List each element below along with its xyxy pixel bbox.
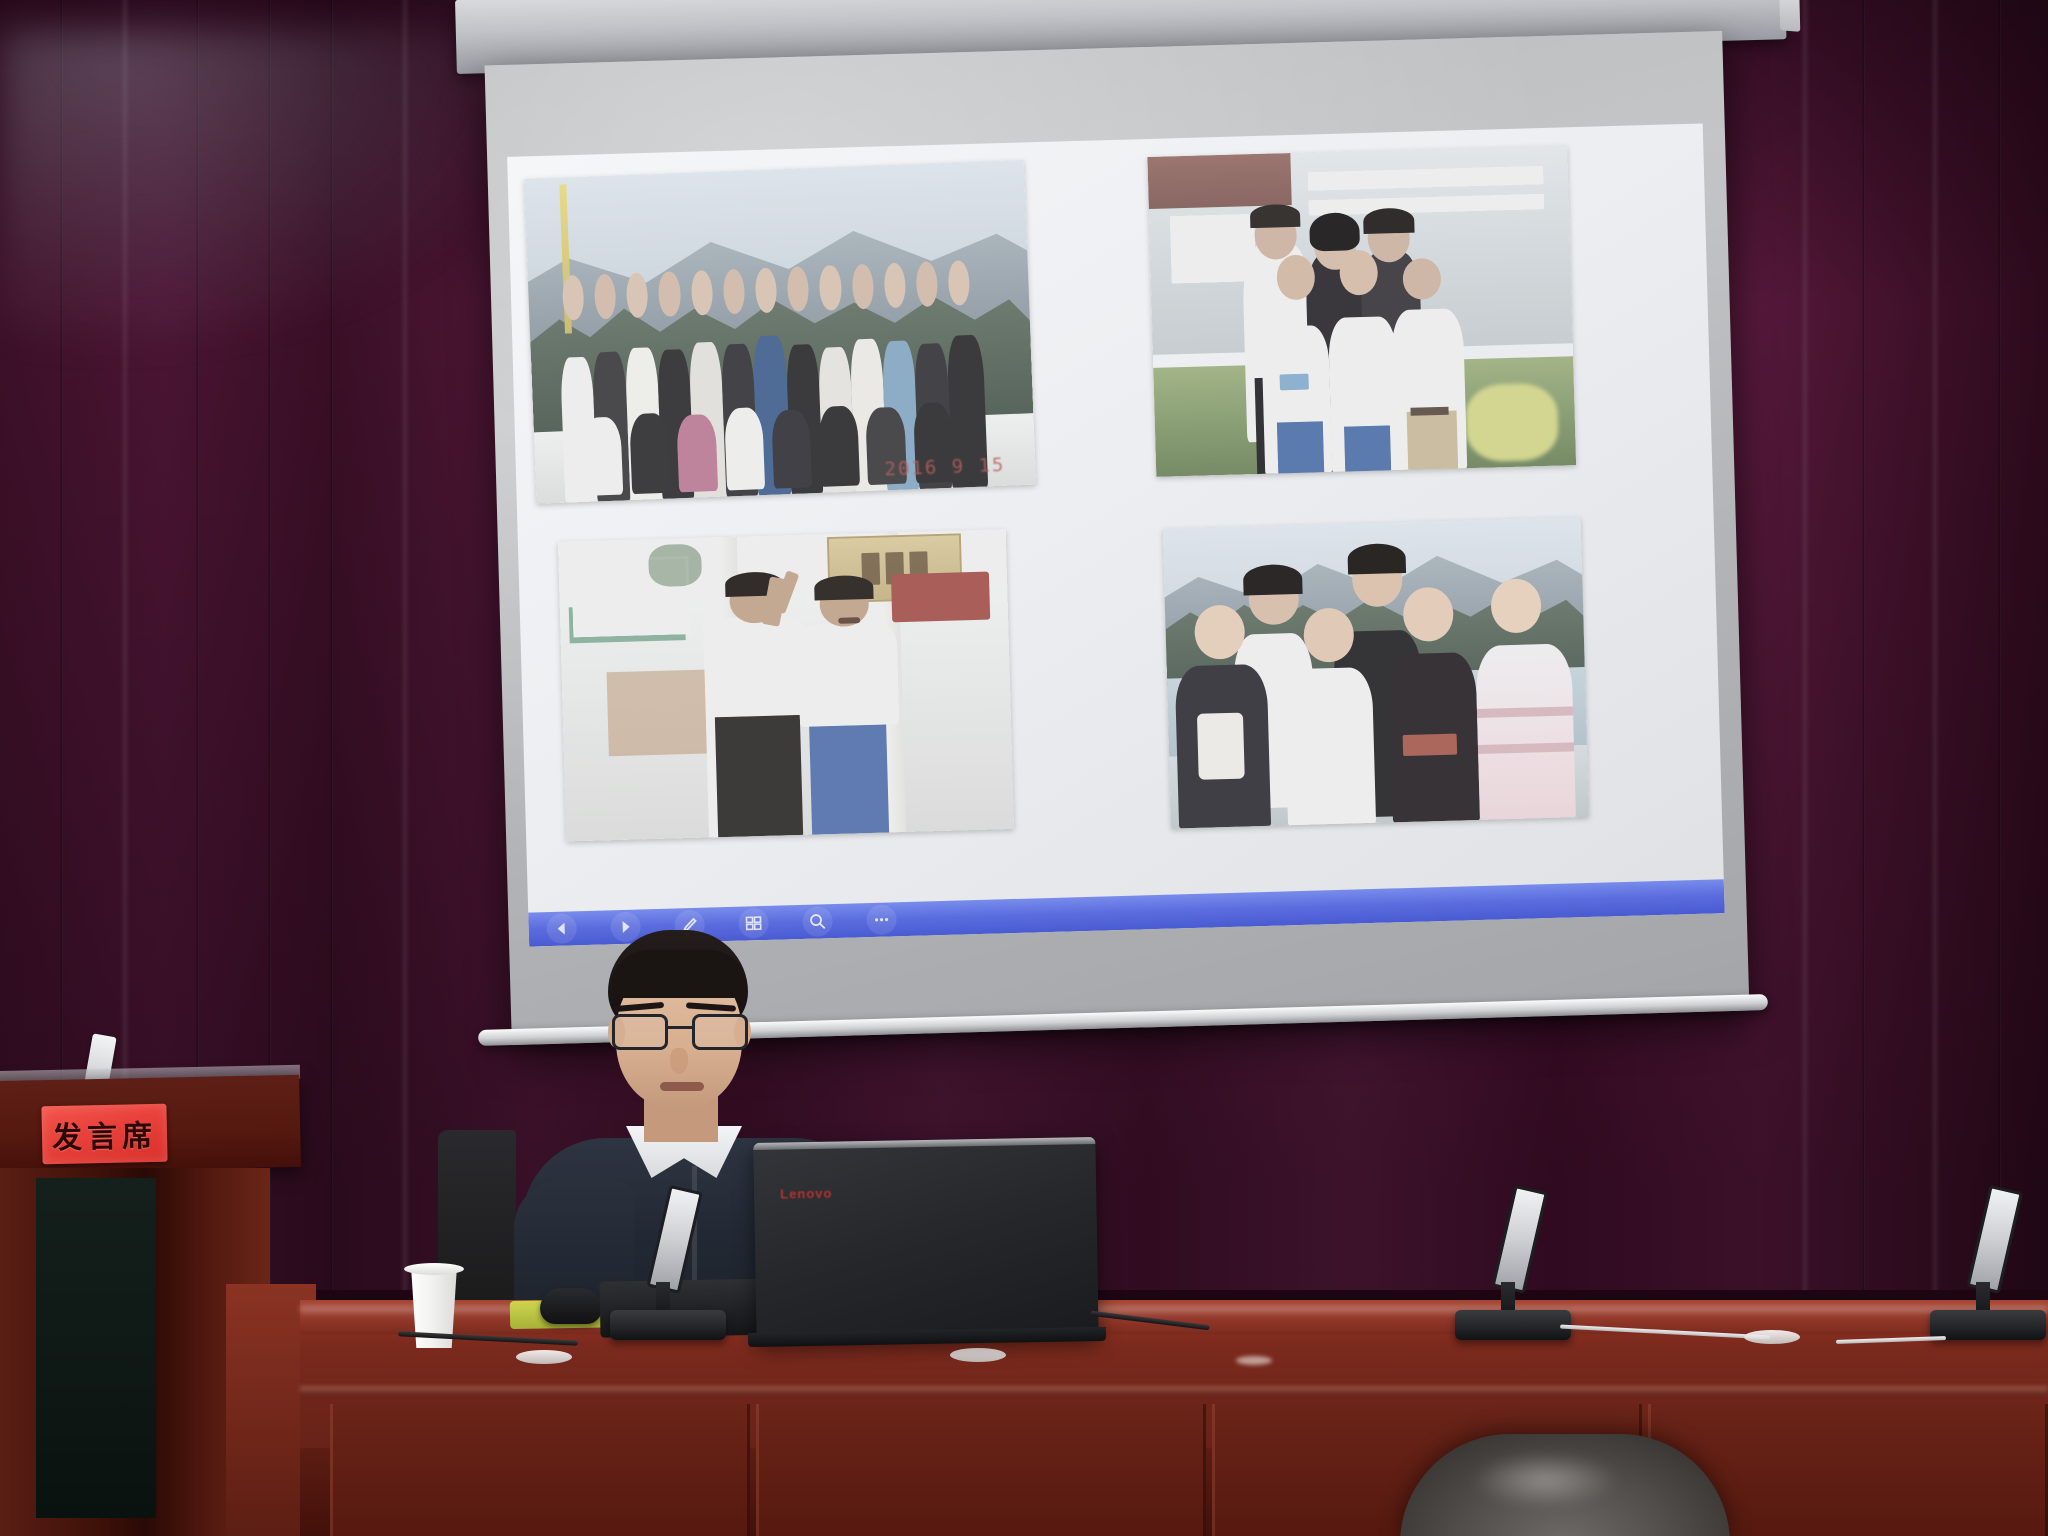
microphone-base — [610, 1310, 726, 1340]
screenshot-root: 2016 9 15 — [0, 0, 2048, 1536]
speaker-hair-fringe — [612, 950, 746, 998]
podium-sign-text: 发言席 — [52, 1111, 158, 1157]
slide-photo-top-left: 2016 9 15 — [524, 160, 1036, 504]
desk-microphone-left — [1455, 1180, 1571, 1340]
slide-photo-bottom-left — [558, 529, 1014, 841]
microphone-base — [1930, 1310, 2046, 1340]
screen-housing-end-cap — [1779, 0, 1801, 32]
desk-microphone-center — [610, 1180, 726, 1340]
photo-date-stamp: 2016 9 15 — [884, 454, 1006, 481]
cable-grommet — [1744, 1330, 1800, 1344]
glasses-lens-left — [612, 1014, 668, 1050]
curtain-highlight — [0, 30, 560, 360]
presenter-laptop[interactable]: Lenovo — [753, 1137, 1098, 1341]
microphone-base — [1455, 1310, 1571, 1340]
desk-microphone-right — [1930, 1180, 2046, 1340]
computer-mouse[interactable] — [540, 1288, 602, 1324]
slide-photo-bottom-right — [1163, 517, 1589, 829]
microphone-panel — [1491, 1185, 1548, 1294]
cable-grommet — [950, 1348, 1006, 1362]
projected-slide: 2016 9 15 — [507, 123, 1725, 946]
cable-grommet — [516, 1350, 572, 1364]
projection-screen: 2016 9 15 — [485, 31, 1750, 1045]
table-panel-seam — [330, 1404, 750, 1536]
speaker-mouth — [660, 1082, 704, 1091]
glasses-lens-right — [692, 1014, 748, 1050]
table-glint — [1236, 1356, 1272, 1365]
microphone-panel — [646, 1185, 703, 1294]
paper-cup-rim — [404, 1263, 464, 1275]
laptop-brand-logo: Lenovo — [780, 1186, 832, 1202]
podium-sign: 发言席 — [41, 1104, 167, 1165]
table-panel-seam — [756, 1404, 1206, 1536]
glasses-bridge — [668, 1026, 694, 1029]
speaker-glasses — [608, 1014, 754, 1052]
slide-photo-top-right — [1147, 145, 1576, 477]
table-edge-trim — [300, 1386, 2048, 1396]
microphone-panel — [1966, 1185, 2023, 1294]
speaker-nose — [670, 1048, 688, 1074]
audience-hair-highlight — [1470, 1452, 1620, 1508]
podium-shelf-opening — [36, 1178, 156, 1518]
